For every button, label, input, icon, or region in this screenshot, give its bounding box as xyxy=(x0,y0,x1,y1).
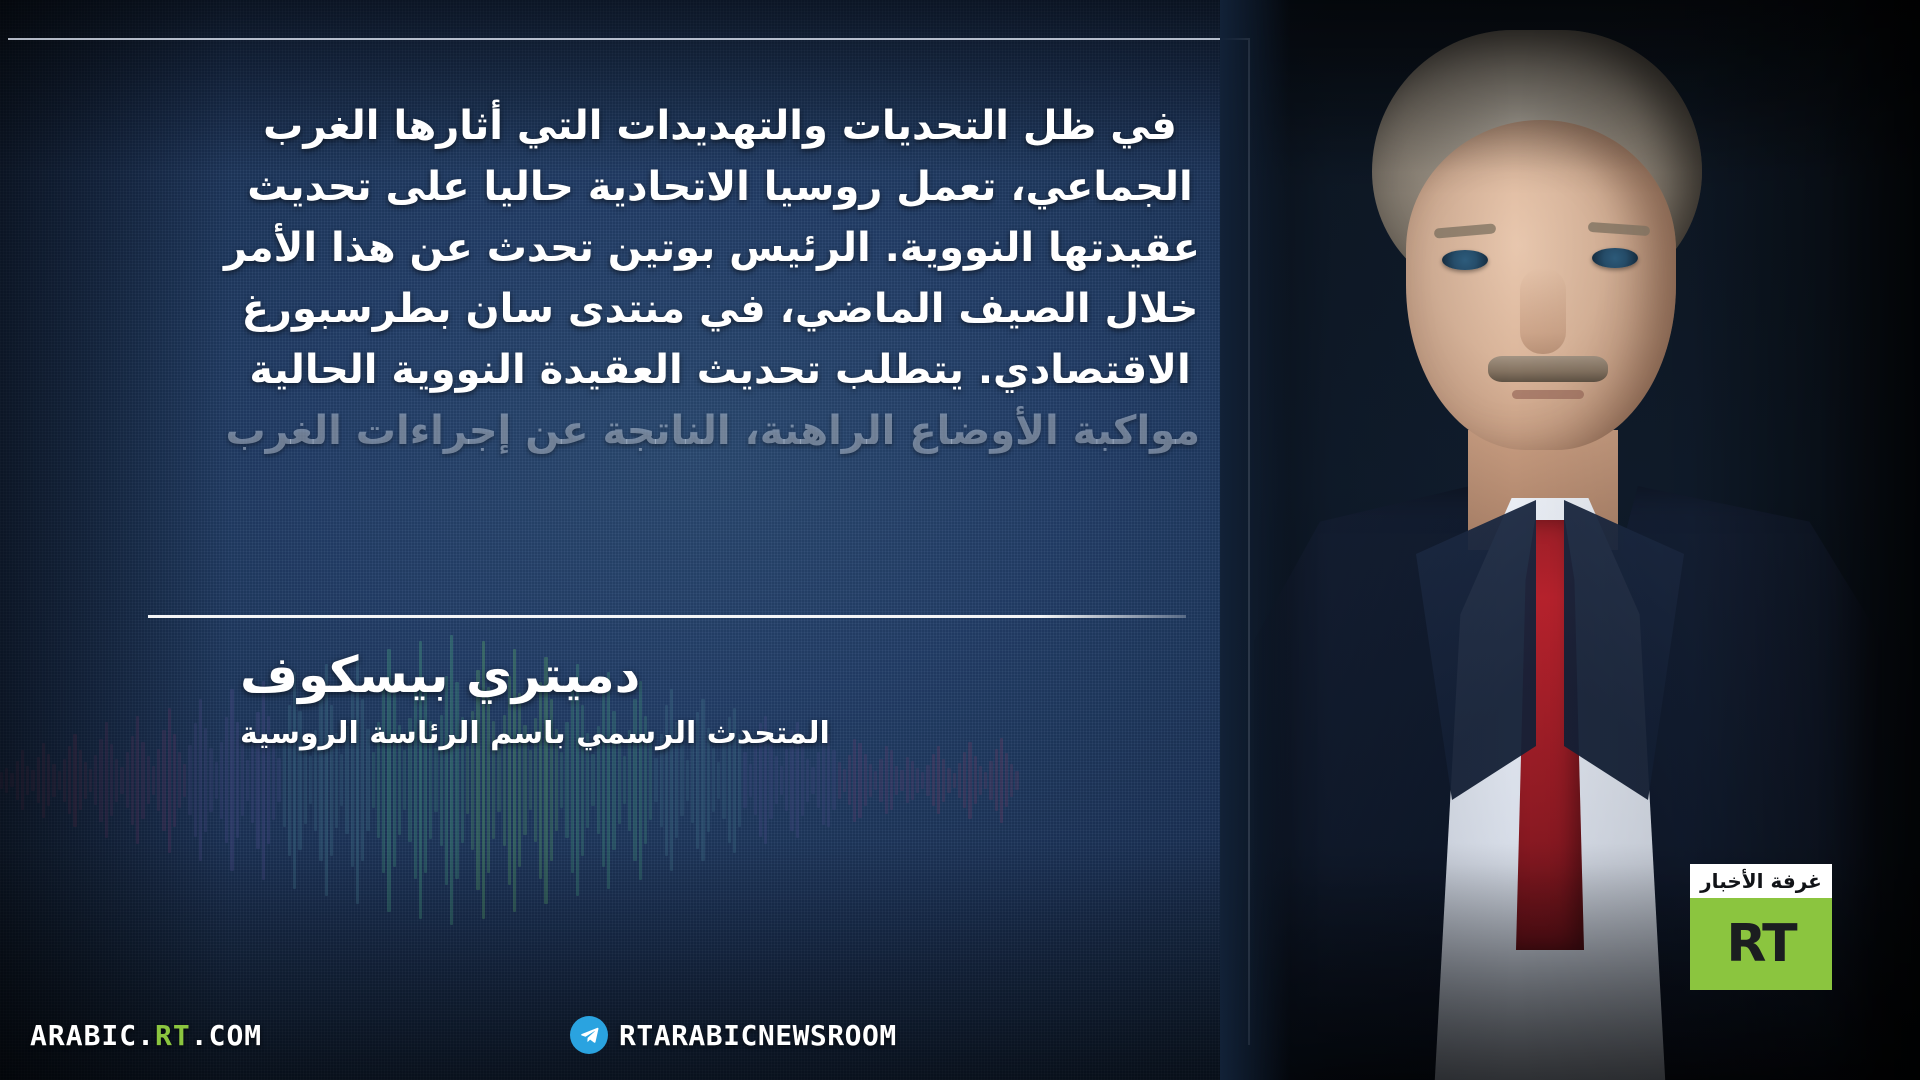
speaker-title: المتحدث الرسمي باسم الرئاسة الروسية xyxy=(240,710,1200,758)
rt-logo-mark: RT xyxy=(1690,898,1832,990)
attribution-block: دميتري بيسكوف المتحدث الرسمي باسم الرئاس… xyxy=(240,640,1200,758)
quote-line: في ظل التحديات والتهديدات التي أثارها ال… xyxy=(240,96,1200,157)
newsroom-caption: غرفة الأخبار xyxy=(1690,864,1832,898)
quote-line: خلال الصيف الماضي، في منتدى سان بطرسبورغ xyxy=(240,279,1200,340)
quote-line: الاقتصادي. يتطلب تحديث العقيدة النووية ا… xyxy=(240,340,1200,401)
attribution-divider xyxy=(148,615,1186,618)
rt-logo-text: RT xyxy=(1726,918,1795,970)
telegram-handle-block: RTARABICNEWSROOM xyxy=(570,1016,897,1054)
quote-line-faded: مواكبة الأوضاع الراهنة، الناتجة عن إجراء… xyxy=(240,401,1200,462)
speaker-name: دميتري بيسكوف xyxy=(240,640,1200,710)
quote-text-block: في ظل التحديات والتهديدات التي أثارها ال… xyxy=(240,96,1200,462)
website-highlight: RT xyxy=(155,1019,191,1052)
quote-line: عقيدتها النووية. الرئيس بوتين تحدث عن هذ… xyxy=(240,218,1200,279)
website-prefix: ARABIC. xyxy=(30,1019,155,1052)
website-suffix: .COM xyxy=(191,1019,262,1052)
broadcast-quote-card: في ظل التحديات والتهديدات التي أثارها ال… xyxy=(0,0,1920,1080)
telegram-handle-text: RTARABICNEWSROOM xyxy=(619,1019,897,1052)
website-url: ARABIC.RT.COM xyxy=(30,1019,262,1052)
rt-logo-badge: غرفة الأخبار RT xyxy=(1690,864,1832,990)
portrait-left-fade xyxy=(1220,0,1290,1080)
quote-line: الجماعي، تعمل روسيا الاتحادية حاليا على … xyxy=(240,157,1200,218)
telegram-icon xyxy=(570,1016,608,1054)
